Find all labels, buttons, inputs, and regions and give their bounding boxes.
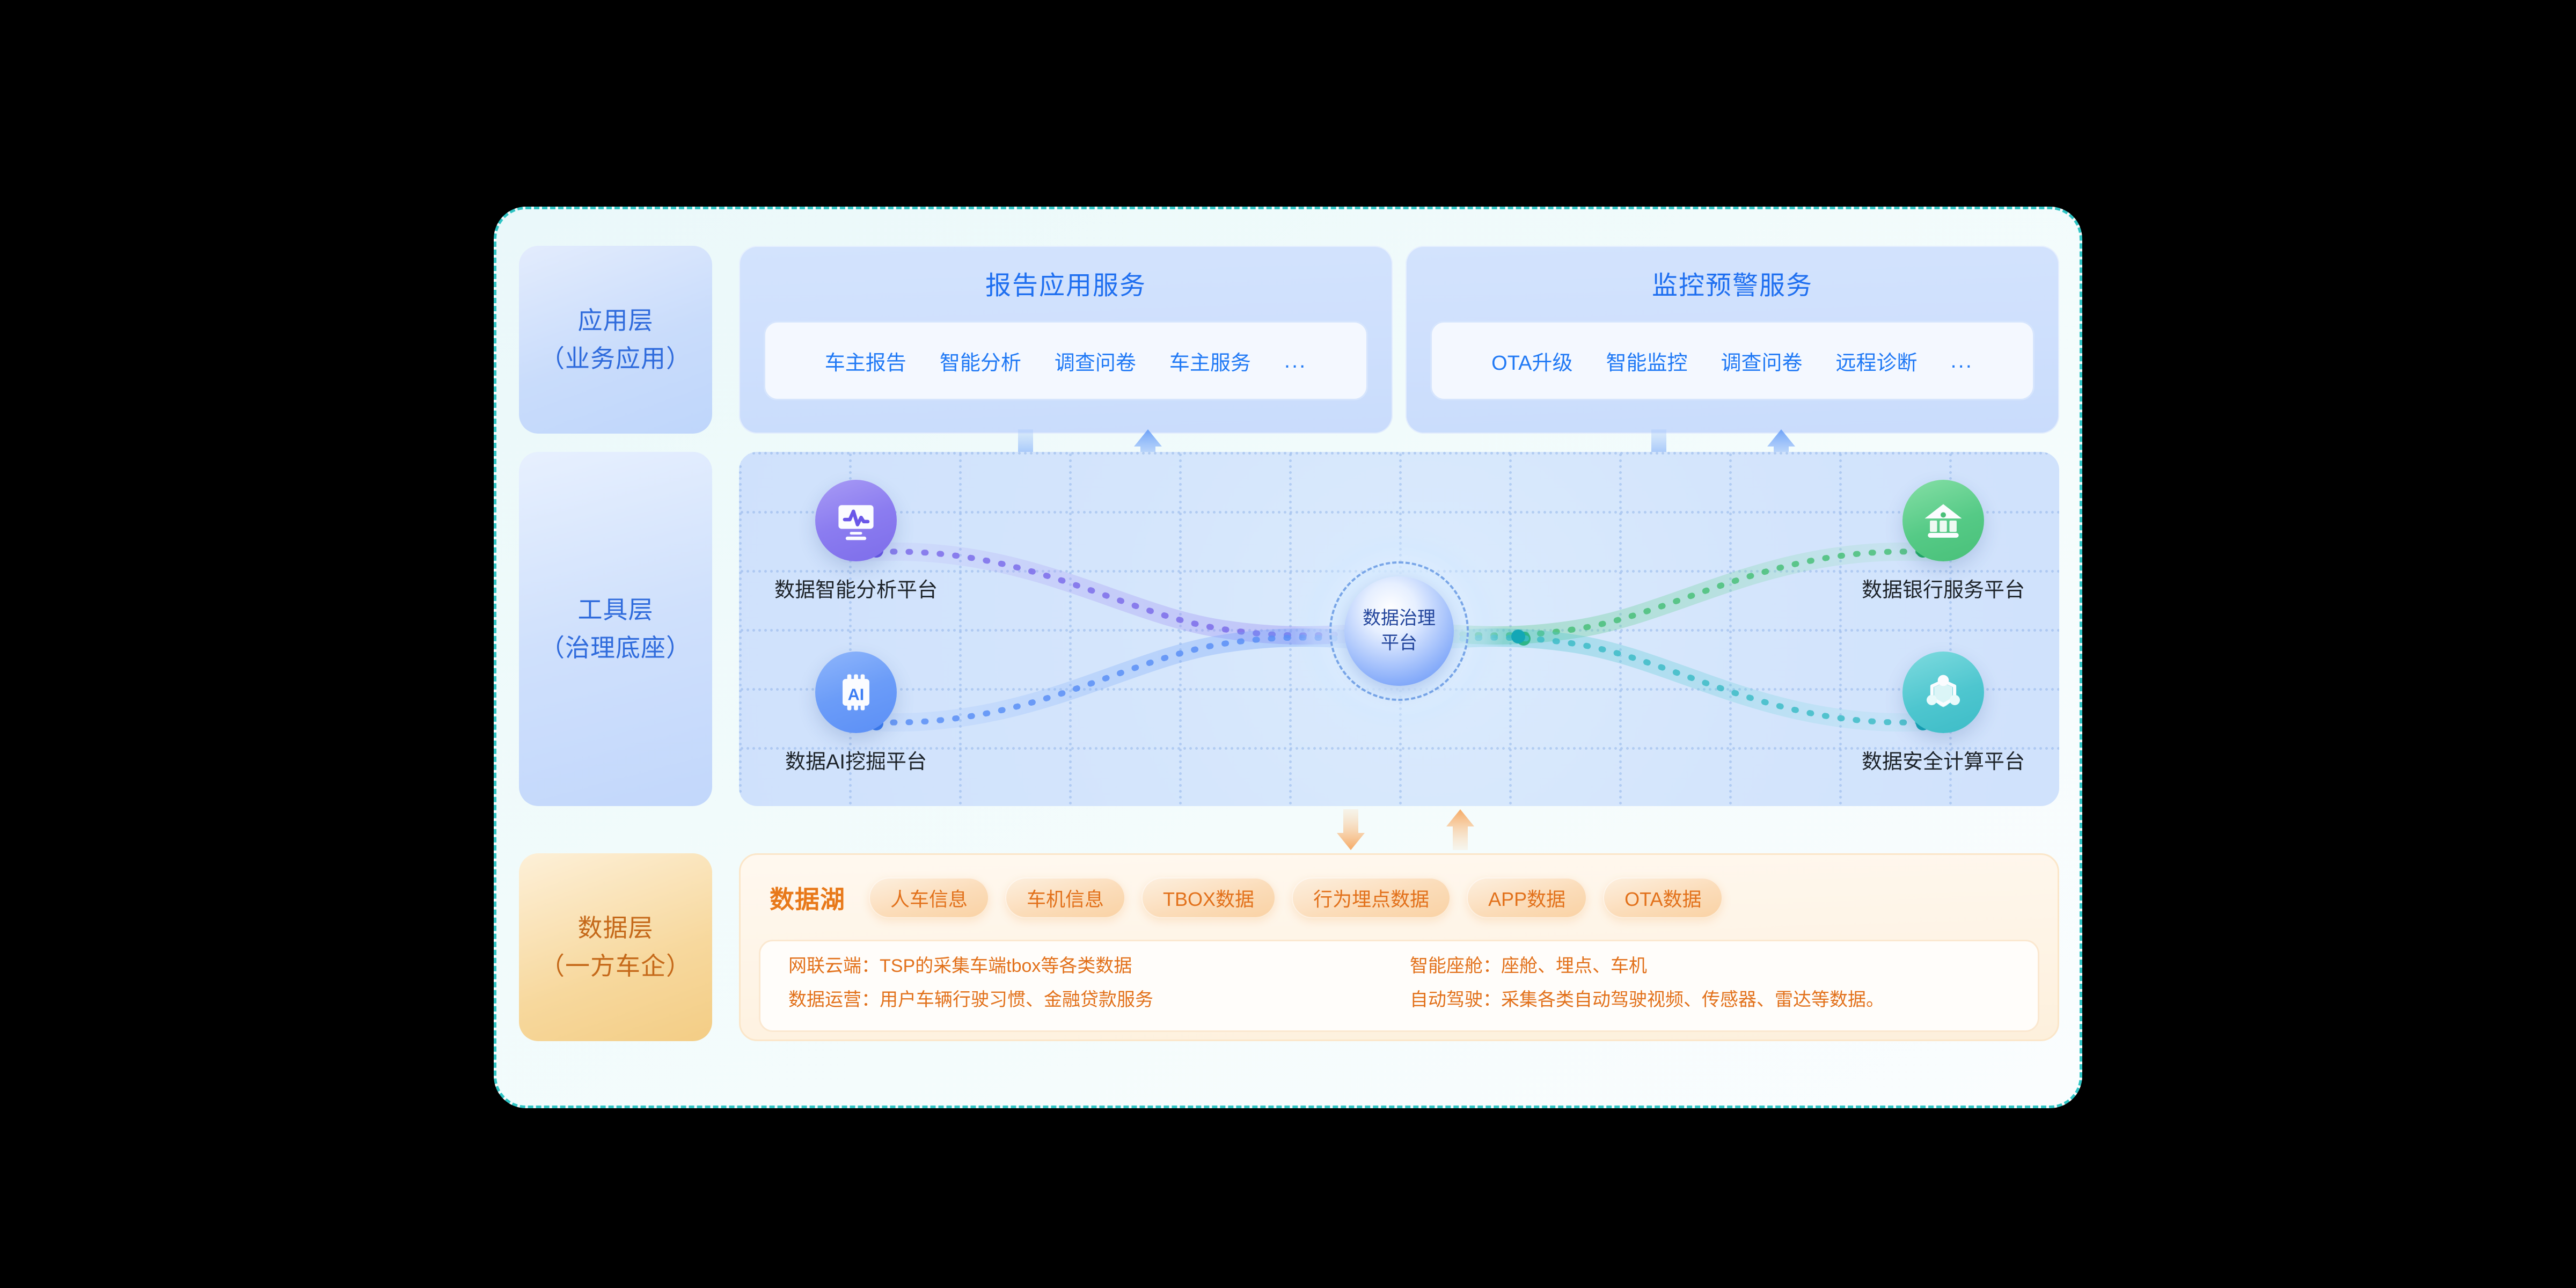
platform-label-data-bank-service: 数据银行服务平台: [1862, 573, 2025, 603]
service-card-monitor-items: OTA升级 智能监控 调查问卷 远程诊断 ...: [1430, 321, 2035, 400]
data-desc-right-1: 自动驾驶：采集各类自动驾驶视频、传感器、雷达等数据。: [1410, 990, 2010, 1010]
hub-label-line2: 平台: [1381, 631, 1417, 656]
platform-icon-wrapper-secure: [1902, 652, 1984, 733]
service-item-monitor-0[interactable]: OTA升级: [1491, 346, 1572, 376]
layer-label-data-name: 数据层: [578, 909, 654, 947]
monitor-pulse-icon: [831, 496, 881, 545]
service-item-report-2[interactable]: 调查问卷: [1055, 346, 1136, 376]
layer-label-data-sub: （一方车企）: [540, 947, 691, 985]
data-desc-left-1: 数据运营：用户车辆行驶习惯、金融贷款服务: [788, 990, 1388, 1010]
platform-label-data-secure-compute: 数据安全计算平台: [1862, 745, 2025, 774]
ai-chip-icon: AI: [831, 668, 881, 717]
platform-node-data-bank-service[interactable]: 数据银行服务平台: [1857, 480, 2029, 603]
layer-label-data: 数据层 （一方车企）: [519, 853, 712, 1041]
svg-text:AI: AI: [848, 685, 865, 704]
service-item-monitor-3[interactable]: 远程诊断: [1835, 346, 1917, 376]
data-desc-column-left: 网联云端：TSP的采集车端tbox等各类数据 数据运营：用户车辆行驶习惯、金融贷…: [788, 956, 1388, 1015]
platform-node-data-analysis[interactable]: 数据智能分析平台: [770, 480, 942, 603]
data-layer-panel: 数据湖 人车信息 车机信息 TBOX数据 行为埋点数据 APP数据 OTA数据 …: [739, 853, 2059, 1041]
arrow-down-tool-to-data: [1337, 809, 1365, 850]
layer-label-tool-name: 工具层: [578, 591, 654, 629]
data-lake-row: 数据湖 人车信息 车机信息 TBOX数据 行为埋点数据 APP数据 OTA数据: [759, 869, 2039, 927]
platform-node-data-secure-compute[interactable]: 数据安全计算平台: [1857, 652, 2029, 774]
service-card-report[interactable]: 报告应用服务 车主报告 智能分析 调查问卷 车主服务 ...: [739, 246, 1393, 434]
service-item-monitor-1[interactable]: 智能监控: [1606, 346, 1687, 376]
service-item-report-more[interactable]: ...: [1284, 349, 1307, 373]
service-item-report-0[interactable]: 车主报告: [825, 346, 906, 376]
data-desc-column-right: 智能座舱：座舱、埋点、车机 自动驾驶：采集各类自动驾驶视频、传感器、雷达等数据。: [1410, 956, 2010, 1015]
layer-label-application-name: 应用层: [578, 302, 654, 340]
hub-core: 数据治理 平台: [1344, 576, 1454, 686]
data-layer-descriptions: 网联云端：TSP的采集车端tbox等各类数据 数据运营：用户车辆行驶习惯、金融贷…: [759, 940, 2039, 1032]
platform-label-data-analysis: 数据智能分析平台: [774, 573, 938, 603]
service-card-monitor-title: 监控预警服务: [1652, 264, 1813, 302]
data-lake-tag-2[interactable]: TBOX数据: [1141, 877, 1276, 918]
platform-icon-wrapper-ai: AI: [815, 652, 897, 733]
service-item-monitor-more[interactable]: ...: [1951, 349, 1973, 373]
shield-network-icon: [1919, 668, 1968, 717]
data-lake-tag-0[interactable]: 人车信息: [869, 877, 989, 918]
service-item-monitor-2[interactable]: 调查问卷: [1721, 346, 1802, 376]
application-layer-row: 报告应用服务 车主报告 智能分析 调查问卷 车主服务 ... 监控预警服务 OT…: [739, 246, 2059, 434]
service-card-monitor[interactable]: 监控预警服务 OTA升级 智能监控 调查问卷 远程诊断 ...: [1406, 246, 2059, 434]
service-card-report-items: 车主报告 智能分析 调查问卷 车主服务 ...: [764, 321, 1368, 400]
data-lake-tag-3[interactable]: 行为埋点数据: [1292, 877, 1451, 918]
platform-icon-wrapper-analysis: [815, 480, 897, 561]
platform-label-data-ai-mining: 数据AI挖掘平台: [785, 745, 927, 774]
layer-label-tool: 工具层 （治理底座）: [519, 452, 712, 806]
service-item-report-1[interactable]: 智能分析: [940, 346, 1021, 376]
service-item-report-3[interactable]: 车主服务: [1169, 346, 1251, 376]
layer-label-application: 应用层 （业务应用）: [519, 246, 712, 434]
layer-label-tool-sub: （治理底座）: [540, 629, 691, 667]
data-desc-left-0: 网联云端：TSP的采集车端tbox等各类数据: [788, 956, 1388, 976]
data-lake-title: 数据湖: [770, 880, 845, 916]
data-lake-tag-1[interactable]: 车机信息: [1005, 877, 1125, 918]
arrow-up-data-to-tool: [1446, 809, 1474, 850]
platform-icon-wrapper-bank: [1902, 480, 1984, 561]
data-lake-tag-4[interactable]: APP数据: [1467, 877, 1587, 918]
hub-label-line1: 数据治理: [1363, 606, 1436, 631]
architecture-diagram-container: 应用层 （业务应用） 工具层 （治理底座） 数据层 （一方车企） 报告应用服务 …: [494, 207, 2082, 1108]
tool-layer-panel: 数据治理 平台 数据智能分析平台: [739, 452, 2059, 806]
layer-label-application-sub: （业务应用）: [540, 340, 691, 378]
hub-data-governance-platform[interactable]: 数据治理 平台: [1295, 527, 1503, 735]
data-lake-tag-5[interactable]: OTA数据: [1603, 877, 1723, 918]
bank-icon: [1919, 496, 1968, 545]
service-card-report-title: 报告应用服务: [985, 264, 1146, 302]
platform-node-data-ai-mining[interactable]: AI 数据AI挖掘平台: [770, 652, 942, 774]
data-desc-right-0: 智能座舱：座舱、埋点、车机: [1410, 956, 2010, 976]
